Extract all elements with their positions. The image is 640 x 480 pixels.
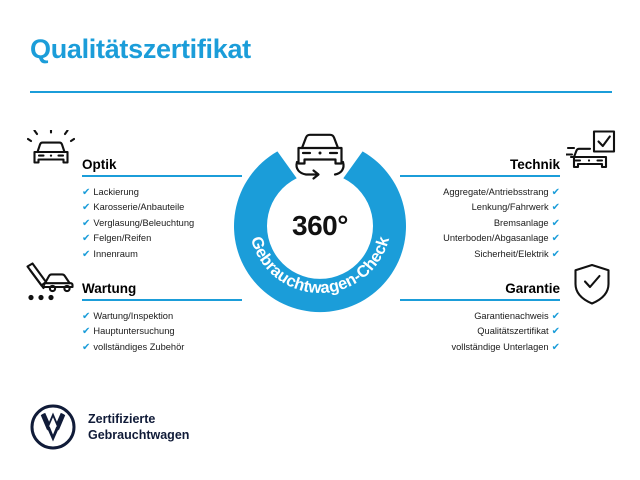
checklist: ✔Lackierung ✔Karosserie/Anbauteile ✔Verg… xyxy=(82,185,242,262)
check-icon: ✔ xyxy=(82,311,90,322)
check-icon: ✔ xyxy=(552,311,560,322)
section-optik: Optik ✔Lackierung ✔Karosserie/Anbauteile… xyxy=(82,148,242,262)
list-item: Unterboden/Abgasanlage✔ xyxy=(400,231,560,246)
title-divider xyxy=(30,91,612,93)
list-item-label: Karosserie/Anbauteile xyxy=(93,202,184,212)
list-item: ✔Hauptuntersuchung xyxy=(82,324,242,339)
check-icon: ✔ xyxy=(82,326,90,337)
section-garantie: Garantie Garantienachweis✔ Qualitätszert… xyxy=(400,272,560,355)
car-shine-icon xyxy=(27,130,75,170)
footer-line-2: Gebrauchtwagen xyxy=(88,427,189,443)
list-item-label: Lenkung/Fahrwerk xyxy=(472,202,549,212)
checklist: ✔Wartung/Inspektion ✔Hauptuntersuchung ✔… xyxy=(82,309,242,355)
list-item: Sicherheit/Elektrik✔ xyxy=(400,247,560,262)
car-service-tool-icon xyxy=(24,262,76,304)
list-item: ✔Felgen/Reifen xyxy=(82,231,242,246)
list-item: ✔Lackierung xyxy=(82,185,242,200)
list-item-label: Wartung/Inspektion xyxy=(93,311,173,321)
shield-check-icon xyxy=(572,263,612,305)
list-item: ✔vollständiges Zubehör xyxy=(82,340,242,355)
list-item-label: vollständiges Zubehör xyxy=(93,342,184,352)
list-item: Lenkung/Fahrwerk✔ xyxy=(400,200,560,215)
footer-text: Zertifizierte Gebrauchtwagen xyxy=(88,411,189,443)
check-icon: ✔ xyxy=(82,342,90,353)
section-title: Garantie xyxy=(505,281,560,296)
check-icon: ✔ xyxy=(552,187,560,198)
car-front-rotation-icon xyxy=(284,126,356,182)
list-item: Qualitätszertifikat✔ xyxy=(400,324,560,339)
vw-footer: Zertifizierte Gebrauchtwagen xyxy=(30,404,189,450)
list-item-label: Sicherheit/Elektrik xyxy=(474,249,548,259)
check-icon: ✔ xyxy=(552,249,560,260)
section-wartung: Wartung ✔Wartung/Inspektion ✔Hauptunters… xyxy=(82,272,242,355)
list-item-label: vollständige Unterlagen xyxy=(451,342,548,352)
list-item: ✔Wartung/Inspektion xyxy=(82,309,242,324)
list-item: vollständige Unterlagen✔ xyxy=(400,340,560,355)
section-divider xyxy=(400,299,560,301)
list-item: Garantienachweis✔ xyxy=(400,309,560,324)
section-divider xyxy=(400,175,560,177)
list-item: ✔Karosserie/Anbauteile xyxy=(82,200,242,215)
vw-logo xyxy=(30,404,76,450)
page-title: Qualitätszertifikat xyxy=(30,34,251,65)
section-title: Wartung xyxy=(82,281,136,296)
section-header: Garantie xyxy=(400,272,560,298)
section-header: Wartung xyxy=(82,272,242,298)
list-item: ✔Verglasung/Beleuchtung xyxy=(82,216,242,231)
check-icon: ✔ xyxy=(552,233,560,244)
checklist: Garantienachweis✔ Qualitätszertifikat✔ v… xyxy=(400,309,560,355)
car-checkbox-icon xyxy=(566,130,616,174)
check-icon: ✔ xyxy=(552,218,560,229)
list-item-label: Bremsanlage xyxy=(494,218,549,228)
check-icon: ✔ xyxy=(552,202,560,213)
footer-line-1: Zertifizierte xyxy=(88,411,189,427)
list-item-label: Hauptuntersuchung xyxy=(93,326,174,336)
check-icon: ✔ xyxy=(82,218,90,229)
list-item-label: Qualitätszertifikat xyxy=(477,326,548,336)
list-item: Bremsanlage✔ xyxy=(400,216,560,231)
check-icon: ✔ xyxy=(82,187,90,198)
check-icon: ✔ xyxy=(82,202,90,213)
certificate-page: Qualitätszertifikat xyxy=(0,0,640,480)
checklist: Aggregate/Antriebsstrang✔ Lenkung/Fahrwe… xyxy=(400,185,560,262)
list-item: ✔Innenraum xyxy=(82,247,242,262)
section-header: Technik xyxy=(400,148,560,174)
check-icon: ✔ xyxy=(82,233,90,244)
list-item-label: Unterboden/Abgasanlage xyxy=(443,233,548,243)
check-icon: ✔ xyxy=(82,249,90,260)
list-item-label: Innenraum xyxy=(93,249,137,259)
section-technik: Technik Aggregate/Antriebsstrang✔ Lenkun… xyxy=(400,148,560,262)
list-item-label: Garantienachweis xyxy=(474,311,548,321)
list-item-label: Lackierung xyxy=(93,187,138,197)
section-divider xyxy=(82,299,242,301)
check-icon: ✔ xyxy=(552,342,560,353)
section-divider xyxy=(82,175,242,177)
badge-degrees: 360° xyxy=(222,210,418,242)
list-item-label: Aggregate/Antriebsstrang xyxy=(443,187,548,197)
list-item-label: Verglasung/Beleuchtung xyxy=(93,218,194,228)
section-header: Optik xyxy=(82,148,242,174)
list-item-label: Felgen/Reifen xyxy=(93,233,151,243)
list-item: Aggregate/Antriebsstrang✔ xyxy=(400,185,560,200)
section-title: Technik xyxy=(510,157,560,172)
check-icon: ✔ xyxy=(552,326,560,337)
section-title: Optik xyxy=(82,157,117,172)
